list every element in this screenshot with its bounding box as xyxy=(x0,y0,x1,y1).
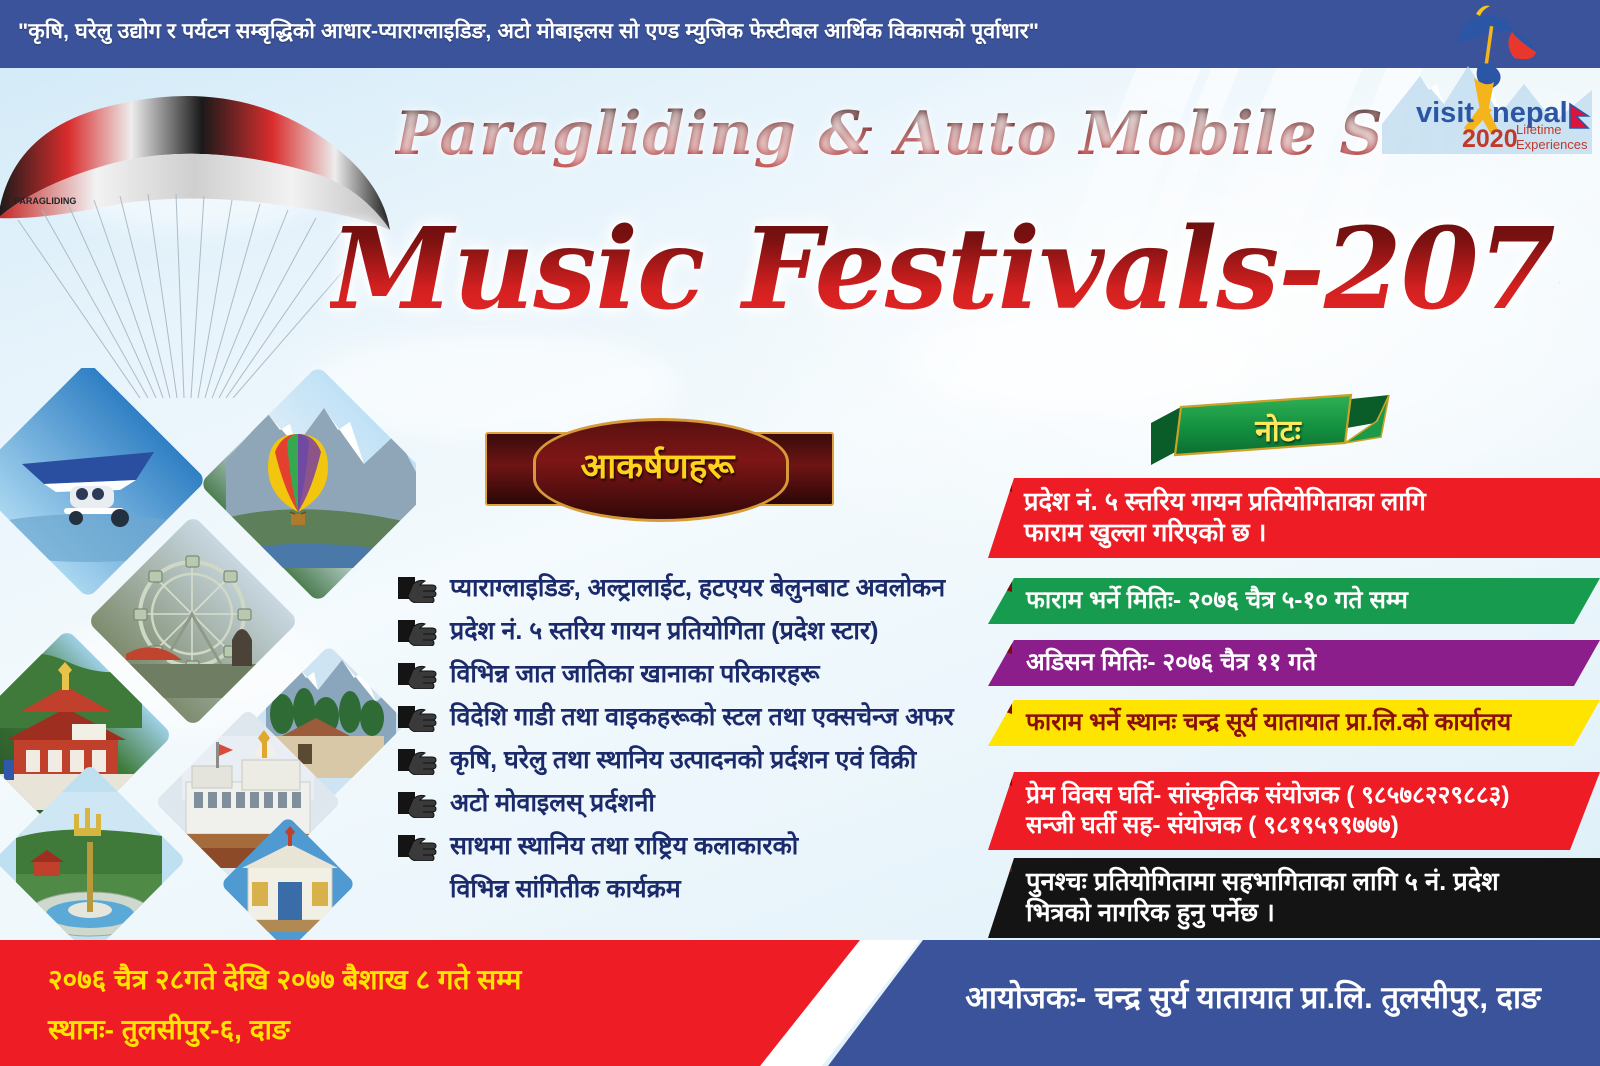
pointing-hand-icon xyxy=(398,788,444,818)
list-item: कृषि, घरेलु तथा स्थानिय उत्पादनको प्रर्द… xyxy=(398,740,978,780)
band-line: सन्जी घर्ती सह- संयोजक ( ९८१९५९९७७७) xyxy=(1026,811,1600,841)
list-item: साथमा स्थानिय तथा राष्ट्रिय कलाकारको xyxy=(398,826,978,866)
band-line: पुनश्चः प्रतियोगितामा सहभागिताका लागि ५ … xyxy=(1026,867,1600,898)
footer-date-venue-panel: २०७६ चैत्र २८गते देखि २०७७ बैशाख ८ गते स… xyxy=(0,940,870,1066)
list-item: विभिन्न जात जातिका खानाका परिकारहरू xyxy=(398,654,978,694)
band-line: फाराम भर्ने मितिः- २०७६ चैत्र ५-१० गते स… xyxy=(1026,586,1600,616)
band-form-place: फाराम भर्ने स्थानः चन्द्र सूर्य यातायात … xyxy=(988,700,1600,746)
band-line: अडिसन मितिः- २०७६ चैत्र ११ गते xyxy=(1026,648,1600,678)
band-audition-date: अडिसन मितिः- २०७६ चैत्र ११ गते xyxy=(988,640,1600,686)
pointing-hand-icon xyxy=(398,573,444,603)
list-item-text: प्याराग्लाइडिङ, अल्ट्रालाईट, हटएयर बेलुन… xyxy=(450,568,945,608)
logo-year-text: 2020 xyxy=(1462,125,1518,153)
pointing-hand-icon xyxy=(398,702,444,732)
list-item-continuation-text: विभिन्न सांगितीक कार्यक्रम xyxy=(450,869,978,909)
canopy-brand-text: PARAGLIDING xyxy=(14,196,76,206)
top-slogan-banner: "कृषि, घरेलु उद्योग र पर्यटन सम्बृद्धिको… xyxy=(0,0,1600,68)
footer-organizer-panel: आयोजकः- चन्द्र सुर्य यातायात प्रा.लि. तु… xyxy=(828,940,1600,1066)
attractions-heading-plate: आकर्षणहरू xyxy=(485,418,830,516)
list-item: विदेशि गाडी तथा वाइकहरूको स्टल तथा एक्सच… xyxy=(398,697,978,737)
band-registration-open: प्रदेश नं. ५ स्त्तरिय गायन प्रतियोगिताका… xyxy=(988,478,1600,558)
list-item: प्रदेश नं. ५ स्तरिय गायन प्रतियोगिता (प्… xyxy=(398,611,978,651)
note-ribbon: नोटः xyxy=(1145,393,1395,473)
band-line: प्रदेश नं. ५ स्त्तरिय गायन प्रतियोगिताका… xyxy=(1024,487,1600,518)
list-item: प्याराग्लाइडिङ, अल्ट्रालाईट, हटएयर बेलुन… xyxy=(398,568,978,608)
band-form-dates: फाराम भर्ने मितिः- २०७६ चैत्र ५-१० गते स… xyxy=(988,578,1600,624)
note-ribbon-label: नोटः xyxy=(1213,409,1343,450)
attractions-list: प्याराग्लाइडिङ, अल्ट्रालाईट, हटएयर बेलुन… xyxy=(398,568,978,909)
pointing-hand-icon xyxy=(398,831,444,861)
band-line: भित्रको नागरिक हुनु पर्नेछ । xyxy=(1026,898,1600,929)
band-line: फाराम भर्ने स्थानः चन्द्र सूर्य यातायात … xyxy=(1026,708,1600,738)
band-line: प्रेम विवस घर्ति- सांस्कृतिक संयोजक ( ९८… xyxy=(1026,781,1600,811)
footer-venue-text: स्थानः- तुलसीपुर-६, दाङ xyxy=(48,1010,290,1048)
band-eligibility: पुनश्चः प्रतियोगितामा सहभागिताका लागि ५ … xyxy=(988,858,1600,938)
subtitle-paragliding-automobile-show: Paragliding & Auto Mobile Show xyxy=(395,88,1385,180)
logo-tagline-line2: Experiences xyxy=(1516,137,1588,152)
band-line: फाराम खुल्ला गरिएको छ । xyxy=(1024,518,1600,549)
list-item: अटो मोवाइलस् प्रर्दशनी xyxy=(398,783,978,823)
slogan-text: "कृषि, घरेलु उद्योग र पर्यटन सम्बृद्धिको… xyxy=(18,16,1388,45)
logo-tagline-line1: Lifetime xyxy=(1516,122,1562,137)
list-item-text: साथमा स्थानिय तथा राष्ट्रिय कलाकारको xyxy=(450,826,798,866)
pointing-hand-icon xyxy=(398,745,444,775)
photo-collage xyxy=(0,368,416,948)
list-item-text: विदेशि गाडी तथा वाइकहरूको स्टल तथा एक्सच… xyxy=(450,697,954,737)
list-item-text: प्रदेश नं. ५ स्तरिय गायन प्रतियोगिता (प्… xyxy=(450,611,878,651)
band-tail xyxy=(966,466,1012,492)
footer-organizer-text: आयोजकः- चन्द्र सुर्य यातायात प्रा.लि. तु… xyxy=(923,976,1583,1018)
visit-nepal-2020-logo: visit nepal 2020 Lifetime Experiences xyxy=(1382,4,1592,154)
footer-date-text: २०७६ चैत्र २८गते देखि २०७७ बैशाख ८ गते स… xyxy=(48,960,521,998)
list-item-text: अटो मोवाइलस् प्रर्दशनी xyxy=(450,783,655,823)
footer: २०७६ चैत्र २८गते देखि २०७७ बैशाख ८ गते स… xyxy=(0,940,1600,1066)
band-coordinators: प्रेम विवस घर्ति- सांस्कृतिक संयोजक ( ९८… xyxy=(988,772,1600,850)
pointing-hand-icon xyxy=(398,616,444,646)
attractions-heading-text: आकर्षणहरू xyxy=(485,418,830,516)
main-title-music-festivals: Music Festivals-2076-077 xyxy=(330,195,1560,345)
list-item-text: कृषि, घरेलु तथा स्थानिय उत्पादनको प्रर्द… xyxy=(450,740,916,780)
list-item-text: विभिन्न जात जातिका खानाका परिकारहरू xyxy=(450,654,820,694)
poster-canvas: "कृषि, घरेलु उद्योग र पर्यटन सम्बृद्धिको… xyxy=(0,0,1600,1066)
pointing-hand-icon xyxy=(398,659,444,689)
